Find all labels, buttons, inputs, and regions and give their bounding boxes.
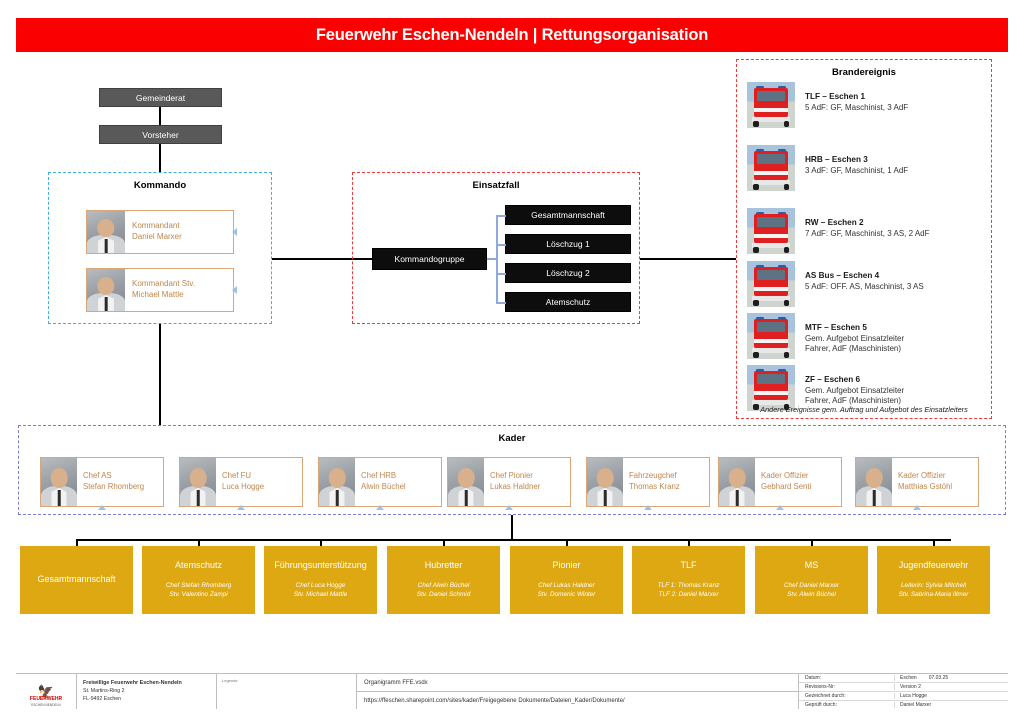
org-name: Freiwillige Feuerwehr Eschen-Nendeln: [83, 679, 210, 687]
meta-row: Revisions-Nr: Version 2: [799, 683, 1008, 692]
node-gesamtmannschaft[interactable]: Gesamtmannschaft: [505, 205, 631, 225]
unit-subtitle: Chef Luca Hogge Stv. Michael Mattle: [294, 581, 348, 600]
meta-row: Datum: Eschen 07.03.25: [799, 674, 1008, 683]
kader-card-text: Fahrzeugchef Thomas Kranz: [623, 458, 709, 506]
unit-line: TLF 2: Daniel Marxer: [658, 590, 720, 600]
expand-caret-icon[interactable]: [505, 505, 513, 510]
avatar-photo: [856, 458, 892, 506]
unit-line: Chef Stefan Rhomberg: [166, 581, 231, 591]
fire-truck-icon: [747, 82, 795, 128]
person-role: Kommandant: [132, 221, 233, 232]
connector-units-bus: [76, 539, 951, 541]
kader-card-chef-hrb[interactable]: Chef HRB Alwin Büchel: [318, 457, 442, 507]
group-brandereignis: Brandereignis TLF – Eschen 1 5 AdF: GF, …: [736, 59, 992, 419]
person-role: Chef Pionier: [490, 471, 570, 482]
person-role: Kader Offizier: [898, 471, 978, 482]
person-card-kommandant[interactable]: Kommandant Daniel Marxer: [86, 210, 234, 254]
kader-card-text: Kader Offizier Matthias Gstöhl: [892, 458, 978, 506]
unit-line: Stv. Valentino Zampi: [166, 590, 231, 600]
unit-box-hubretter[interactable]: Hubretter Chef Alwin Büchel Stv. Daniel …: [387, 546, 500, 614]
meta-row: Geprüft durch: Daniel Marxer: [799, 701, 1008, 709]
unit-line: Stv. Alwin Büchel: [784, 590, 839, 600]
unit-box-tlf[interactable]: TLF TLF 1: Thomas Kranz TLF 2: Daniel Ma…: [632, 546, 745, 614]
kader-card-kader-offizier-gstoehl[interactable]: Kader Offizier Matthias Gstöhl: [855, 457, 979, 507]
unit-box-fuehrungsunterstuetzung[interactable]: Führungsunterstützung Chef Luca Hogge St…: [264, 546, 377, 614]
person-name: Thomas Kranz: [629, 482, 709, 493]
kader-card-chef-pionier[interactable]: Chef Pionier Lukas Haldner: [447, 457, 571, 507]
group-title-brandereignis: Brandereignis: [737, 67, 991, 78]
meta-key: Datum:: [799, 675, 894, 681]
expand-caret-icon[interactable]: [232, 228, 237, 236]
unit-line: Chef Alwin Büchel: [417, 581, 471, 591]
fire-truck-icon: [747, 261, 795, 307]
unit-line: TLF 1: Thomas Kranz: [658, 581, 720, 591]
brand-vehicle-name: RW – Eschen 2: [805, 218, 983, 229]
avatar-photo: [587, 458, 623, 506]
unit-title: Pionier: [552, 560, 580, 571]
footer-meta-table: Datum: Eschen 07.03.25 Revisions-Nr: Ver…: [798, 674, 1008, 709]
fire-truck-icon: [747, 145, 795, 191]
brand-vehicle-desc: 5 AdF: GF, Maschinist, 3 AdF: [805, 103, 983, 114]
expand-caret-icon[interactable]: [232, 286, 237, 294]
kader-card-text: Chef FU Luca Hogge: [216, 458, 302, 506]
feuerwehr-logo: 🦅 FEUERWEHR ESCHEN NENDELN: [16, 674, 76, 709]
avatar-photo: [87, 211, 125, 253]
person-role: Kommandant Stv.: [132, 279, 233, 290]
node-vorsteher[interactable]: Vorsteher: [99, 125, 222, 144]
unit-title: Führungsunterstützung: [274, 560, 367, 571]
person-card-text: Kommandant Stv. Michael Mattle: [125, 269, 233, 311]
meta-value: Luca Hogge: [894, 693, 1008, 699]
person-role: Chef HRB: [361, 471, 441, 482]
avatar-photo: [319, 458, 355, 506]
unit-box-jugendfeuerwehr[interactable]: Jugendfeuerwehr Leiterin: Sylvia Mitchel…: [877, 546, 990, 614]
org-street: St. Martins-Ring 2: [83, 687, 210, 695]
unit-line: Stv. Daniel Schmid: [417, 590, 471, 600]
expand-caret-icon[interactable]: [237, 505, 245, 510]
unit-line: Chef Luca Hogge: [294, 581, 348, 591]
node-gemeinderat[interactable]: Gemeinderat: [99, 88, 222, 107]
unit-title: Jugendfeuerwehr: [899, 560, 969, 571]
unit-subtitle: Leiterin: Sylvia Mitchell Stv. Sabrina-M…: [899, 581, 969, 600]
unit-line: Chef Lukas Haldner: [538, 581, 596, 591]
unit-box-ms[interactable]: MS Chef Daniel Marxer Stv. Alwin Büchel: [755, 546, 868, 614]
unit-box-gesamtmannschaft[interactable]: Gesamtmannschaft: [20, 546, 133, 614]
node-atemschutz[interactable]: Atemschutz: [505, 292, 631, 312]
org-city: FL-9492 Eschen: [83, 695, 210, 703]
fire-truck-icon: [747, 313, 795, 359]
brand-vehicle-item[interactable]: HRB – Eschen 3 3 AdF: GF, Maschinist, 1 …: [747, 145, 983, 193]
logo-sub: ESCHEN NENDELN: [31, 703, 60, 707]
footer-address: Freiwillige Feuerwehr Eschen-Nendeln St.…: [76, 674, 216, 709]
connector-einsatz-bus: [496, 215, 498, 302]
avatar-photo: [41, 458, 77, 506]
doc-filename: Organigramm FFE.vsdx: [357, 674, 798, 692]
unit-line: Stv. Domenic Winter: [538, 590, 596, 600]
brand-vehicle-text: AS Bus – Eschen 4 5 AdF: OFF. AS, Maschi…: [795, 261, 983, 292]
person-role: Chef AS: [83, 471, 163, 482]
meta-value-city: Eschen: [900, 675, 917, 681]
unit-title: Hubretter: [425, 560, 463, 571]
person-role: Chef FU: [222, 471, 302, 482]
unit-line: Leiterin: Sylvia Mitchell: [899, 581, 969, 591]
brand-vehicle-name: AS Bus – Eschen 4: [805, 271, 983, 282]
connector-einsatzfall-brandereignis: [640, 258, 736, 260]
meta-row: Gezeichnet durch: Luca Hogge: [799, 692, 1008, 701]
person-role: Fahrzeugchef: [629, 471, 709, 482]
group-title-einsatzfall: Einsatzfall: [353, 180, 639, 191]
brand-vehicle-item[interactable]: AS Bus – Eschen 4 5 AdF: OFF. AS, Maschi…: [747, 261, 983, 309]
brand-vehicle-text: MTF – Eschen 5 Gem. Aufgebot Einsatzleit…: [795, 313, 983, 355]
meta-key: Gezeichnet durch:: [799, 693, 894, 699]
brandereignis-note: Andere Ereignisse gem. Auftrag und Aufge…: [737, 405, 991, 414]
expand-caret-icon[interactable]: [644, 505, 652, 510]
unit-subtitle: Chef Daniel Marxer Stv. Alwin Büchel: [784, 581, 839, 600]
brand-vehicle-item[interactable]: RW – Eschen 2 7 AdF: GF, Maschinist, 3 A…: [747, 208, 983, 256]
connector-kader-units-stem: [511, 515, 513, 539]
person-card-text: Kommandant Daniel Marxer: [125, 211, 233, 253]
group-title-kommando: Kommando: [49, 180, 271, 191]
kader-card-text: Kader Offizier Gebhard Senti: [755, 458, 841, 506]
connector-gemeinderat-vorsteher: [159, 107, 161, 125]
person-name: Matthias Gstöhl: [898, 482, 978, 493]
brand-vehicle-text: ZF – Eschen 6 Gem. Aufgebot Einsatzleite…: [795, 365, 983, 407]
doc-url[interactable]: https://ffeschen.sharepoint.com/sites/ka…: [357, 692, 798, 709]
brand-vehicle-desc: Gem. Aufgebot Einsatzleiter: [805, 386, 983, 397]
person-name: Alwin Büchel: [361, 482, 441, 493]
legend-label: Legende: [222, 678, 238, 683]
connector-kommando-kader: [159, 324, 161, 425]
brand-vehicle-text: TLF – Eschen 1 5 AdF: GF, Maschinist, 3 …: [795, 82, 983, 113]
meta-value-date: 07.03.25: [929, 675, 948, 681]
unit-line: Stv. Sabrina-Maria Illmer: [899, 590, 969, 600]
meta-value: Version 2: [894, 684, 1008, 690]
unit-line: Stv. Michael Mattle: [294, 590, 348, 600]
node-loeschzug-1[interactable]: Löschzug 1: [505, 234, 631, 254]
footer-document: Organigramm FFE.vsdx https://ffeschen.sh…: [356, 674, 798, 709]
kader-card-fahrzeugchef[interactable]: Fahrzeugchef Thomas Kranz: [586, 457, 710, 507]
footer: 🦅 FEUERWEHR ESCHEN NENDELN Freiwillige F…: [16, 673, 1008, 709]
person-name: Gebhard Senti: [761, 482, 841, 493]
meta-key: Revisions-Nr:: [799, 684, 894, 690]
kader-card-chef-fu[interactable]: Chef FU Luca Hogge: [179, 457, 303, 507]
brand-vehicle-desc: 5 AdF: OFF. AS, Maschinist, 3 AS: [805, 282, 983, 293]
person-name: Michael Mattle: [132, 290, 233, 301]
organigramm-page: Feuerwehr Eschen-Nendeln | Rettungsorgan…: [0, 0, 1024, 723]
node-kommandogruppe[interactable]: Kommandogruppe: [372, 248, 487, 270]
avatar-photo: [180, 458, 216, 506]
connector-vorsteher-kommando: [159, 144, 161, 173]
group-title-kader: Kader: [19, 433, 1005, 444]
meta-key: Geprüft durch:: [799, 702, 894, 708]
unit-subtitle: Chef Stefan Rhomberg Stv. Valentino Zamp…: [166, 581, 231, 600]
unit-box-pionier[interactable]: Pionier Chef Lukas Haldner Stv. Domenic …: [510, 546, 623, 614]
kader-card-text: Chef Pionier Lukas Haldner: [484, 458, 570, 506]
expand-caret-icon[interactable]: [913, 505, 921, 510]
connector-branch-atemschutz: [496, 302, 506, 304]
brand-vehicle-name: ZF – Eschen 6: [805, 375, 983, 386]
connector-branch-gesamtmannschaft: [496, 215, 506, 217]
avatar-photo: [719, 458, 755, 506]
brand-vehicle-item[interactable]: TLF – Eschen 1 5 AdF: GF, Maschinist, 3 …: [747, 82, 983, 130]
page-title: Feuerwehr Eschen-Nendeln | Rettungsorgan…: [16, 18, 1008, 52]
brand-vehicle-text: HRB – Eschen 3 3 AdF: GF, Maschinist, 1 …: [795, 145, 983, 176]
person-card-kommandant-stv[interactable]: Kommandant Stv. Michael Mattle: [86, 268, 234, 312]
unit-title: TLF: [680, 560, 696, 571]
brand-vehicle-text: RW – Eschen 2 7 AdF: GF, Maschinist, 3 A…: [795, 208, 983, 239]
kader-card-kader-offizier-senti[interactable]: Kader Offizier Gebhard Senti: [718, 457, 842, 507]
person-name: Stefan Rhomberg: [83, 482, 163, 493]
brand-vehicle-desc: Gem. Aufgebot Einsatzleiter: [805, 334, 983, 345]
connector-branch-loeschzug-1: [496, 244, 506, 246]
avatar-photo: [87, 269, 125, 311]
brand-vehicle-name: TLF – Eschen 1: [805, 92, 983, 103]
person-name: Luca Hogge: [222, 482, 302, 493]
person-name: Daniel Marxer: [132, 232, 233, 243]
footer-legend: Legende: [216, 674, 356, 709]
logo-wordmark: FEUERWEHR: [30, 696, 62, 702]
expand-caret-icon[interactable]: [376, 505, 384, 510]
brand-vehicle-name: HRB – Eschen 3: [805, 155, 983, 166]
unit-subtitle: Chef Lukas Haldner Stv. Domenic Winter: [538, 581, 596, 600]
unit-title: Atemschutz: [175, 560, 222, 571]
kader-card-text: Chef HRB Alwin Büchel: [355, 458, 441, 506]
expand-caret-icon[interactable]: [776, 505, 784, 510]
expand-caret-icon[interactable]: [98, 505, 106, 510]
meta-value: Eschen 07.03.25: [894, 675, 1008, 681]
kader-card-chef-as[interactable]: Chef AS Stefan Rhomberg: [40, 457, 164, 507]
person-role: Kader Offizier: [761, 471, 841, 482]
kader-card-text: Chef AS Stefan Rhomberg: [77, 458, 163, 506]
fire-truck-icon: [747, 208, 795, 254]
unit-subtitle: Chef Alwin Büchel Stv. Daniel Schmid: [417, 581, 471, 600]
unit-line: Chef Daniel Marxer: [784, 581, 839, 591]
node-loeschzug-2[interactable]: Löschzug 2: [505, 263, 631, 283]
brand-vehicle-desc: Fahrer, AdF (Maschinisten): [805, 344, 983, 355]
unit-title: MS: [805, 560, 819, 571]
brand-vehicle-item[interactable]: MTF – Eschen 5 Gem. Aufgebot Einsatzleit…: [747, 313, 983, 361]
person-name: Lukas Haldner: [490, 482, 570, 493]
connector-branch-loeschzug-2: [496, 273, 506, 275]
brand-vehicle-name: MTF – Eschen 5: [805, 323, 983, 334]
unit-title: Gesamtmannschaft: [37, 574, 115, 585]
brand-vehicle-desc: 3 AdF: GF, Maschinist, 1 AdF: [805, 166, 983, 177]
meta-value: Daniel Marxer: [894, 702, 1008, 708]
avatar-photo: [448, 458, 484, 506]
unit-subtitle: TLF 1: Thomas Kranz TLF 2: Daniel Marxer: [658, 581, 720, 600]
unit-box-atemschutz[interactable]: Atemschutz Chef Stefan Rhomberg Stv. Val…: [142, 546, 255, 614]
brand-vehicle-desc: 7 AdF: GF, Maschinist, 3 AS, 2 AdF: [805, 229, 983, 240]
